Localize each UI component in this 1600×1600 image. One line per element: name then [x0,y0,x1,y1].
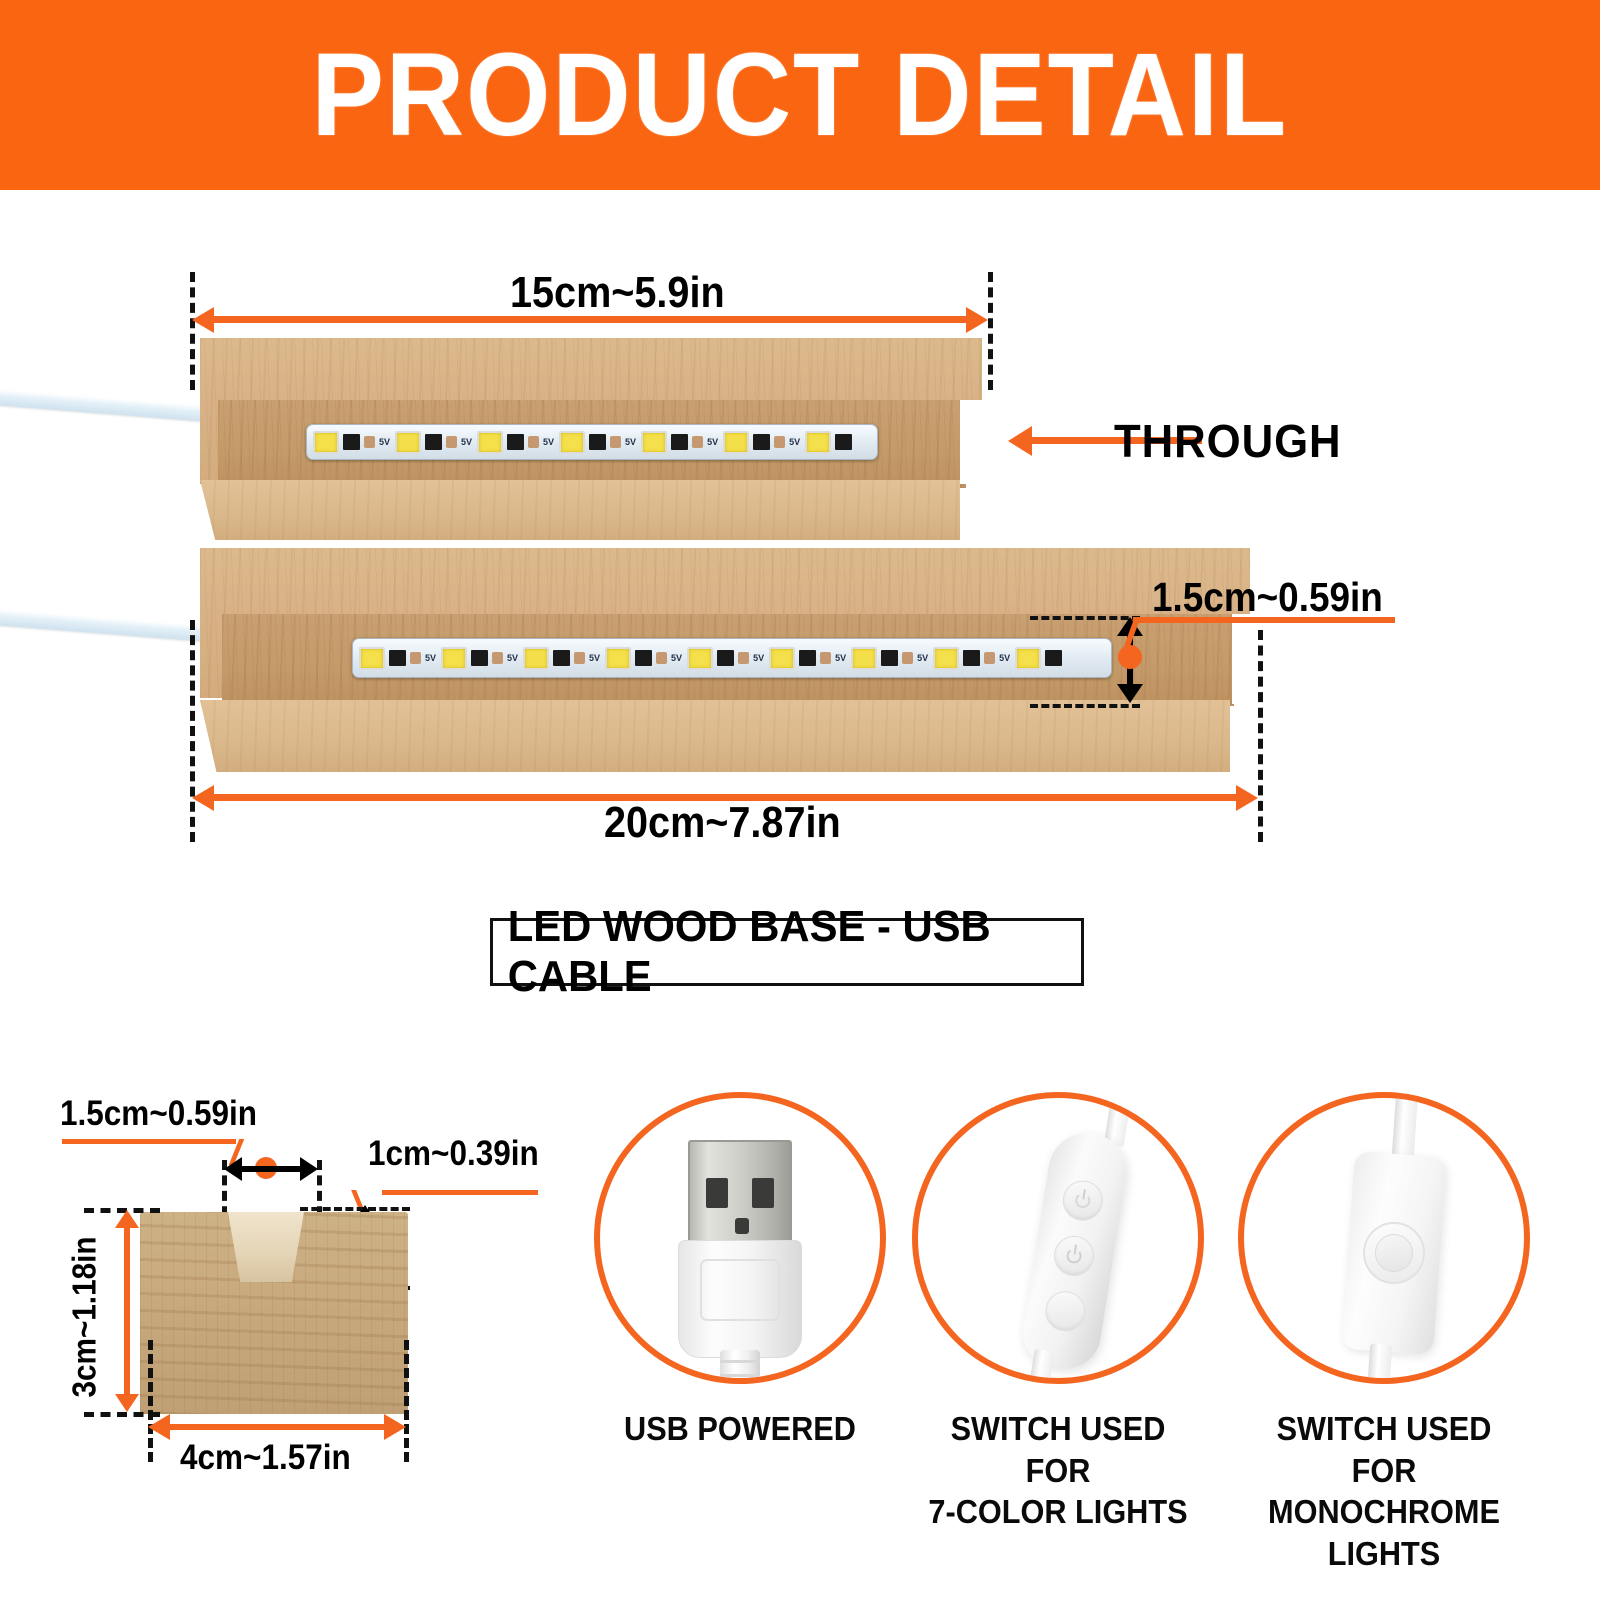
dimension-arrow-width-4cm [168,1424,386,1430]
page-title: PRODUCT DETAIL [312,36,1289,154]
label-width-15cm: 15cm~5.9in [510,268,725,318]
feature-caption-monochrome: SWITCH USED FOR MONOCHROME LIGHTS [1245,1408,1524,1574]
label-groove-depth-cross: 1cm~0.39in [368,1134,539,1174]
feature-switch-7color: SWITCH USED FOR 7-COLOR LIGHTS [908,1092,1208,1533]
leader-dot-groove-depth [1118,645,1142,669]
dimension-arrow-15cm [212,316,968,323]
usb-plug-icon [594,1092,886,1384]
wood-base-bottom-front [200,700,1230,772]
remote-button-brightness [1060,1178,1106,1224]
remote-button-power [1051,1233,1097,1279]
cross-section-groove [228,1212,304,1282]
guide-width-left [148,1340,153,1462]
feature-caption-7color: SWITCH USED FOR 7-COLOR LIGHTS [919,1408,1198,1533]
guide-bottom-groove-depth [1030,704,1140,708]
inline-remote-icon [912,1092,1204,1384]
guide-right-15cm [988,272,993,390]
label-height-3cm: 3cm~1.18in [65,1237,103,1398]
led-strip-bottom: 5V 5V 5V 5V 5V 5V 5V 5V [352,638,1112,678]
label-groove-depth-top: 1.5cm~0.59in [1152,574,1383,621]
remote-body [1018,1127,1132,1372]
switch-button [1361,1220,1427,1286]
wood-base-bottom-right-notch [1232,614,1256,704]
guide-width-right [404,1340,409,1462]
wood-base-top-right-notch [960,400,984,484]
header-banner: PRODUCT DETAIL [0,0,1600,190]
label-groove-width: 1.5cm~0.59in [60,1094,257,1134]
remote-button-mode [1042,1288,1088,1334]
usb-cable-upper [0,388,220,423]
led-voltage-marking: 5V [379,437,390,447]
section-title-box: LED WOOD BASE - USB CABLE [490,918,1084,986]
guide-right-20cm [1258,630,1263,842]
label-length-20cm: 20cm~7.87in [604,798,841,848]
dimension-arrow-height [124,1226,130,1396]
switch-wire-top [1392,1092,1419,1161]
label-width-4cm: 4cm~1.57in [180,1438,351,1478]
switch-body [1341,1151,1447,1355]
feature-caption-usb: USB POWERED [601,1408,880,1450]
label-through: THROUGH [1114,414,1342,468]
dimension-arrow-groove-width [240,1166,302,1172]
feature-switch-monochrome: SWITCH USED FOR MONOCHROME LIGHTS [1234,1092,1534,1574]
switch-wire-bottom [1366,1343,1393,1384]
usb-cable-lower [0,608,220,643]
usb-connector-body [678,1240,802,1358]
rocker-switch-icon [1238,1092,1530,1384]
leader-line-depth-horiz [382,1190,538,1195]
section-title-text: LED WOOD BASE - USB CABLE [508,902,1067,1002]
usb-connector-shell [688,1140,792,1244]
feature-usb-powered: USB POWERED [590,1092,890,1450]
led-strip-top: 5V 5V 5V 5V 5V 5V [306,424,878,460]
wood-base-top-front [200,480,960,540]
usb-strain-relief [720,1350,760,1384]
leader-line-groove-width-horiz [62,1139,236,1144]
